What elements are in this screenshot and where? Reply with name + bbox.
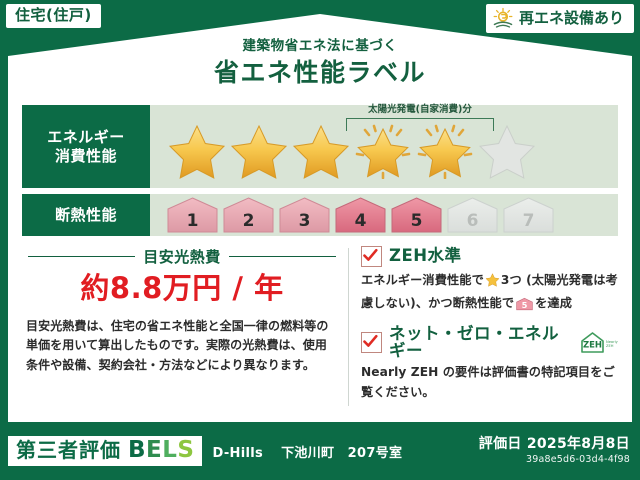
checkbox-net-zero-energy[interactable] bbox=[361, 332, 382, 353]
insulation-level-5-value: 5 bbox=[390, 213, 443, 230]
insulation-level-6-value: 6 bbox=[446, 213, 499, 230]
badge-building-type: 住宅(住戸) bbox=[6, 4, 101, 28]
sun-icon bbox=[492, 7, 514, 29]
evaluation-id: 39a8e5d6-03d4-4f98 bbox=[479, 454, 630, 465]
rule-right bbox=[229, 256, 336, 258]
utility-cost-value: 約8.8万円 / 年 bbox=[22, 274, 342, 303]
insulation-level-5: 5 bbox=[390, 197, 443, 233]
footer: 第三者評価 BELS D-Hills 下池川町 207号室 評価日 2025年8… bbox=[0, 422, 640, 480]
energy-performance-label-box: エネルギー 消費性能 bbox=[22, 105, 150, 188]
page-title: 建築物省エネ法に基づく 省エネ性能ラベル bbox=[0, 40, 640, 85]
criteria-net-zero-desc: Nearly ZEH の要件は評価書の特記項目をご覧ください。 bbox=[361, 363, 618, 402]
svg-text:5: 5 bbox=[522, 300, 528, 310]
label-card: エネルギー 消費性能 太陽光発電(自家消費)分 bbox=[8, 96, 632, 422]
criteria-zeh-level-head: ZEH水準 bbox=[361, 246, 618, 267]
utility-cost-note: 目安光熱費は、住宅の省エネ性能と全国一律の燃料等の単価を用いて算出したものです。… bbox=[22, 317, 342, 375]
svg-text:ZEH: ZEH bbox=[606, 344, 614, 348]
criteria-zeh-level-desc: エネルギー消費性能で3つ (太陽光発電は考慮しない)、かつ断熱性能で5を達成 bbox=[361, 271, 618, 317]
criteria-zeh-level: ZEH水準 エネルギー消費性能で3つ (太陽光発電は考慮しない)、かつ断熱性能で… bbox=[361, 246, 618, 317]
energy-label-line1: エネルギー bbox=[47, 128, 125, 147]
star-5-filled-solar bbox=[414, 121, 476, 179]
star-6-empty bbox=[476, 121, 538, 179]
insulation-level-4: 4 bbox=[334, 197, 387, 233]
checkbox-zeh-level[interactable] bbox=[361, 246, 382, 267]
criteria-net-zero-title: ネット・ゼロ・エネルギー bbox=[389, 326, 569, 359]
energy-performance-label: 建築物省エネ法に基づく 省エネ性能ラベル 住宅(住戸) 再エネ設備あり bbox=[0, 0, 640, 480]
star-icon-inline bbox=[485, 276, 500, 290]
insulation-level-3: 3 bbox=[278, 197, 331, 233]
solar-caption: 太陽光発電(自家消費)分 bbox=[336, 101, 504, 115]
criteria-zeh-desc-part1: エネルギー消費性能で bbox=[361, 273, 484, 287]
insulation-level-7-value: 7 bbox=[502, 213, 555, 230]
insulation-label: 断熱性能 bbox=[55, 206, 117, 225]
energy-performance-stars-panel: 太陽光発電(自家消費)分 bbox=[150, 105, 618, 188]
utility-cost-heading: 目安光熱費 bbox=[22, 246, 342, 267]
badge-renewable-equipment: 再エネ設備あり bbox=[486, 4, 634, 33]
insulation-performance-row: 断熱性能 bbox=[22, 194, 618, 236]
star-1-filled bbox=[166, 121, 228, 179]
property-address: D-Hills 下池川町 207号室 bbox=[212, 442, 402, 461]
bels-ja-label: 第三者評価 bbox=[16, 440, 121, 460]
criteria-zeh-level-title: ZEH水準 bbox=[389, 248, 462, 265]
zeh-house-badge-icon: ZEH Nearly ZEH bbox=[578, 330, 618, 355]
criteria-section: ZEH水準 エネルギー消費性能で3つ (太陽光発電は考慮しない)、かつ断熱性能で… bbox=[361, 246, 618, 412]
insulation-performance-label-box: 断熱性能 bbox=[22, 194, 150, 236]
energy-label-line2: 消費性能 bbox=[47, 147, 125, 166]
insulation-level-3-value: 3 bbox=[278, 213, 331, 230]
insulation-level-1: 1 bbox=[166, 197, 219, 233]
house-icon-inline: 5 bbox=[516, 300, 533, 314]
star-4-filled-solar bbox=[352, 121, 414, 179]
evaluation-meta: 評価日 2025年8月8日 39a8e5d6-03d4-4f98 bbox=[479, 437, 630, 465]
utility-cost-heading-label: 目安光熱費 bbox=[143, 246, 221, 267]
bels-en-label: BELS bbox=[128, 439, 194, 462]
badge-building-type-label: 住宅(住戸) bbox=[15, 6, 92, 24]
star-rating bbox=[150, 121, 538, 179]
insulation-level-4-value: 4 bbox=[334, 213, 387, 230]
badge-renewable-label: 再エネ設備あり bbox=[519, 11, 624, 26]
lower-section: 目安光熱費 約8.8万円 / 年 目安光熱費は、住宅の省エネ性能と全国一律の燃料… bbox=[22, 246, 618, 412]
insulation-level-7: 7 bbox=[502, 197, 555, 233]
criteria-zeh-desc-part3: を達成 bbox=[535, 296, 572, 310]
insulation-level-2: 2 bbox=[222, 197, 275, 233]
criteria-net-zero-energy: ネット・ゼロ・エネルギー ZEH Nearly ZEH Nearly ZEH の… bbox=[361, 326, 618, 402]
title-main: 省エネ性能ラベル bbox=[0, 60, 640, 85]
energy-performance-row: エネルギー 消費性能 太陽光発電(自家消費)分 bbox=[22, 96, 618, 188]
title-subtitle: 建築物省エネ法に基づく bbox=[0, 40, 640, 54]
insulation-level-6: 6 bbox=[446, 197, 499, 233]
insulation-level-2-value: 2 bbox=[222, 213, 275, 230]
insulation-level-list: 1 2 3 bbox=[150, 197, 555, 233]
utility-cost-section: 目安光熱費 約8.8万円 / 年 目安光熱費は、住宅の省エネ性能と全国一律の燃料… bbox=[22, 246, 348, 412]
evaluation-date: 評価日 2025年8月8日 bbox=[479, 437, 630, 452]
insulation-level-1-value: 1 bbox=[166, 213, 219, 230]
star-2-filled bbox=[228, 121, 290, 179]
rule-left bbox=[28, 256, 135, 258]
svg-text:ZEH: ZEH bbox=[583, 341, 602, 351]
star-3-filled bbox=[290, 121, 352, 179]
criteria-net-zero-head: ネット・ゼロ・エネルギー ZEH Nearly ZEH bbox=[361, 326, 618, 359]
insulation-levels-panel: 1 2 3 bbox=[150, 194, 618, 236]
bels-logo: 第三者評価 BELS bbox=[8, 436, 202, 466]
vertical-divider bbox=[348, 248, 349, 406]
